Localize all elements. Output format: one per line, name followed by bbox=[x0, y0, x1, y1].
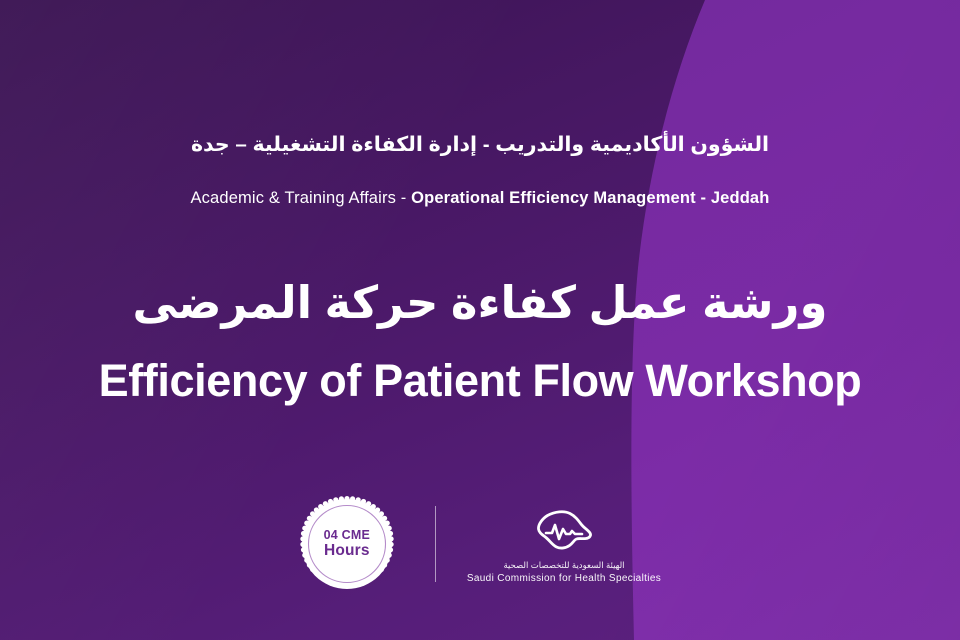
scfhs-logo-block: الهيئة السعودية للتخصصات الصحية Saudi Co… bbox=[467, 504, 661, 584]
cme-hours-label: Hours bbox=[324, 542, 370, 560]
footer-vertical-divider bbox=[435, 506, 436, 582]
header-block: الشؤون الأكاديمية والتدريب - إدارة الكفا… bbox=[0, 131, 960, 208]
scfhs-arabic-name: الهيئة السعودية للتخصصات الصحية bbox=[503, 560, 624, 571]
footer-block: 04 CME Hours الهيئة السعودية للتخصصات ال… bbox=[0, 496, 960, 592]
cme-hours-count: 04 CME bbox=[324, 528, 370, 543]
header-english-bold: Operational Efficiency Management - Jedd… bbox=[411, 189, 769, 207]
cme-badge-text: 04 CME Hours bbox=[324, 528, 370, 560]
title-block: ورشة عمل كفاءة حركة المرضى Efficiency of… bbox=[0, 276, 960, 407]
event-poster: الشؤون الأكاديمية والتدريب - إدارة الكفا… bbox=[0, 0, 960, 640]
saudi-map-heartbeat-icon bbox=[533, 508, 595, 553]
header-arabic-line: الشؤون الأكاديمية والتدريب - إدارة الكفا… bbox=[0, 131, 960, 160]
header-english-line: Academic & Training Affairs - Operationa… bbox=[0, 189, 960, 208]
title-english: Efficiency of Patient Flow Workshop bbox=[0, 355, 960, 407]
cme-hours-badge: 04 CME Hours bbox=[299, 496, 395, 592]
heartbeat-line-icon bbox=[546, 525, 582, 539]
scfhs-english-name: Saudi Commission for Health Specialties bbox=[467, 573, 661, 584]
header-english-regular: Academic & Training Affairs - bbox=[190, 189, 411, 207]
title-arabic: ورشة عمل كفاءة حركة المرضى bbox=[0, 276, 960, 331]
